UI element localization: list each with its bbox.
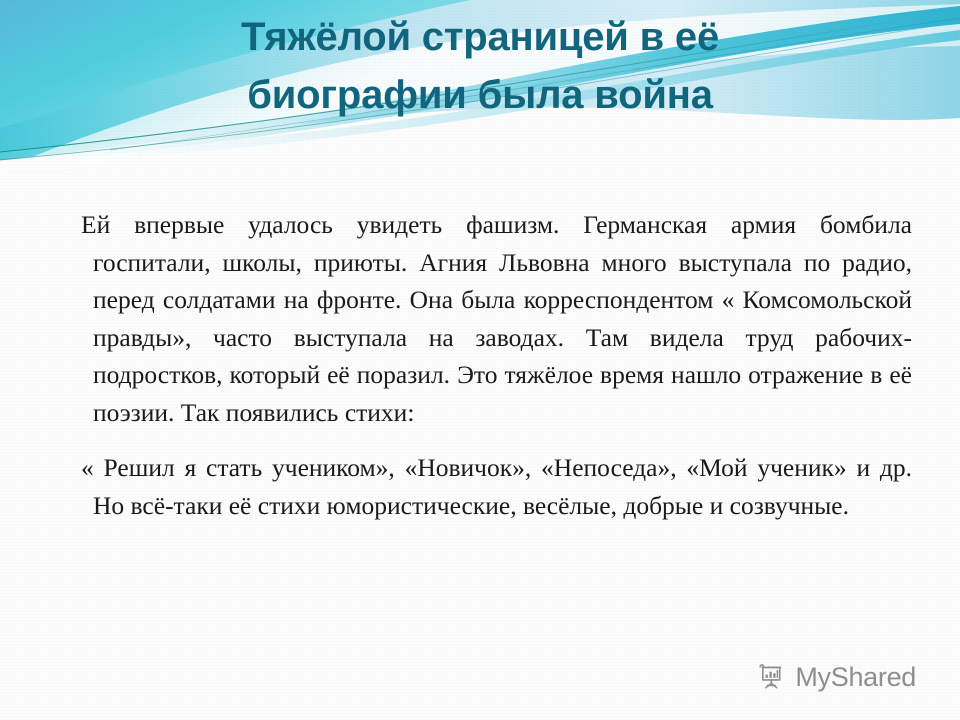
presentation-slide: Тяжёлой страницей в её биографии была во…: [0, 0, 960, 720]
slide-title: Тяжёлой страницей в её биографии была во…: [0, 8, 960, 124]
myshared-watermark-label: MyShared: [795, 664, 916, 691]
body-paragraph-2: « Решил я стать учеником», «Новичок», «Н…: [72, 449, 912, 524]
flipchart-bar-chart-icon: [756, 662, 786, 692]
myshared-watermark: MyShared: [756, 662, 916, 692]
page-title: Тяжёлой страницей в её биографии была во…: [0, 8, 960, 124]
slide-title-line-1: Тяжёлой страницей в её: [0, 8, 960, 66]
body-paragraph-1: Ей впервые удалось увидеть фашизм. Герма…: [72, 206, 912, 431]
slide-title-line-2: биографии была война: [0, 66, 960, 124]
slide-body: Ей впервые удалось увидеть фашизм. Герма…: [72, 206, 912, 524]
